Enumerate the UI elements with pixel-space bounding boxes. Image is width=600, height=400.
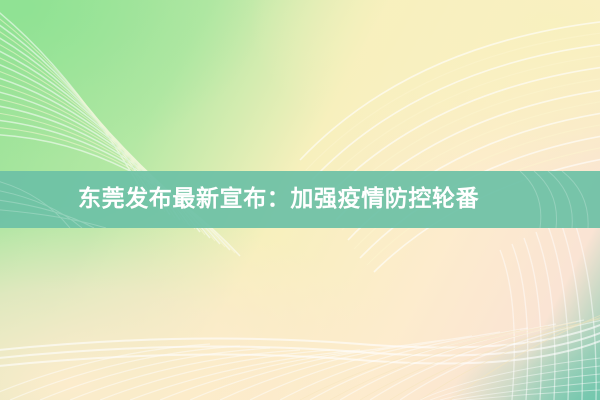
- promo-banner: 东莞发布最新宣布：加强疫情防控轮番: [0, 0, 600, 400]
- headline-band: 东莞发布最新宣布：加强疫情防控轮番: [0, 171, 600, 228]
- page-title: 东莞发布最新宣布：加强疫情防控轮番: [78, 188, 479, 211]
